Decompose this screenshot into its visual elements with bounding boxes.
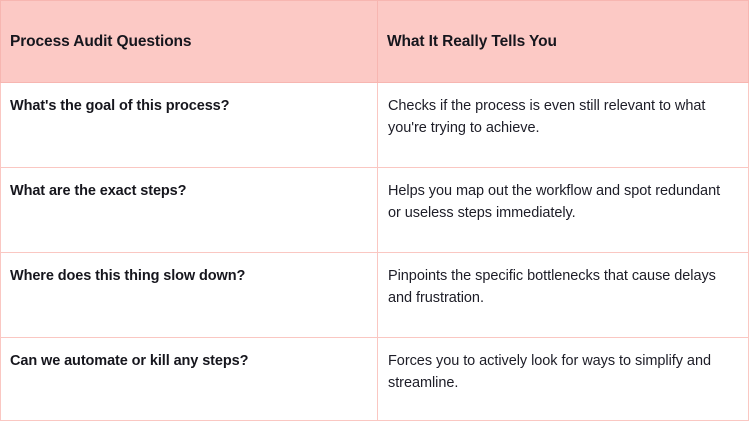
question-cell: Where does this thing slow down?	[1, 253, 378, 338]
table-body: What's the goal of this process? Checks …	[1, 83, 749, 421]
process-audit-table: Process Audit Questions What It Really T…	[0, 0, 749, 421]
question-cell: What's the goal of this process?	[1, 83, 378, 168]
answer-cell: Checks if the process is even still rele…	[378, 83, 749, 168]
column-header-answer: What It Really Tells You	[378, 1, 749, 83]
audit-table-container: Process Audit Questions What It Really T…	[0, 0, 750, 422]
answer-cell: Forces you to actively look for ways to …	[378, 338, 749, 421]
column-header-question: Process Audit Questions	[1, 1, 378, 83]
table-row: Where does this thing slow down? Pinpoin…	[1, 253, 749, 338]
table-row: What are the exact steps? Helps you map …	[1, 168, 749, 253]
table-header: Process Audit Questions What It Really T…	[1, 1, 749, 83]
answer-cell: Pinpoints the specific bottlenecks that …	[378, 253, 749, 338]
question-cell: What are the exact steps?	[1, 168, 378, 253]
table-header-row: Process Audit Questions What It Really T…	[1, 1, 749, 83]
answer-cell: Helps you map out the workflow and spot …	[378, 168, 749, 253]
table-row: What's the goal of this process? Checks …	[1, 83, 749, 168]
table-row: Can we automate or kill any steps? Force…	[1, 338, 749, 421]
question-cell: Can we automate or kill any steps?	[1, 338, 378, 421]
